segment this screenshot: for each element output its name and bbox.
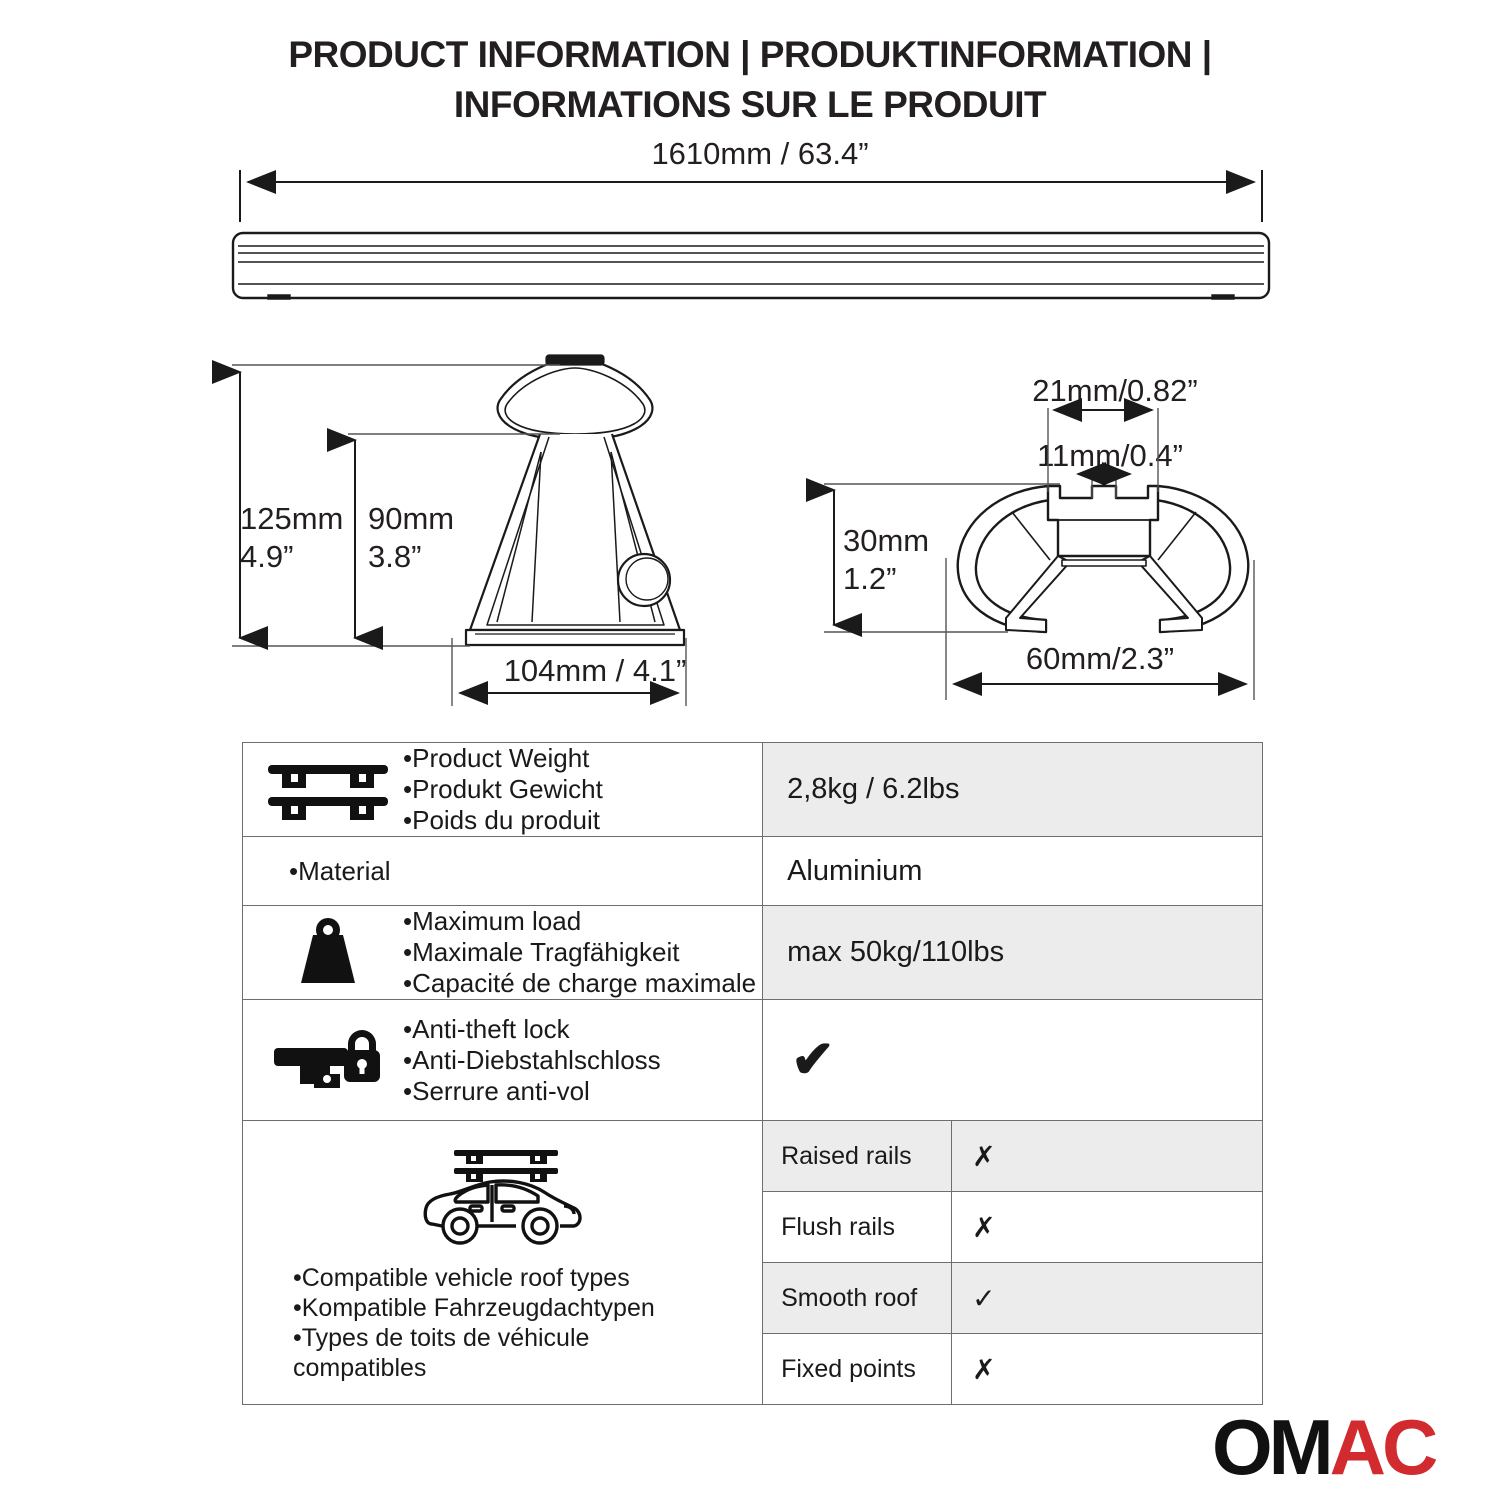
specification-table: •Product Weight •Produkt Gewicht •Poids … — [242, 742, 1263, 1405]
weight-icon — [253, 917, 403, 989]
lock-icon — [253, 1022, 403, 1098]
row-label-cell-weight: •Product Weight •Produkt Gewicht •Poids … — [243, 743, 763, 837]
row-value-cell-weight: 2,8kg / 6.2lbs — [763, 743, 1263, 837]
bar-cross-section — [948, 482, 1252, 632]
label-line: •Kompatible Fahrzeugdachtypen — [293, 1293, 655, 1323]
value-maxload: max 50kg/110lbs — [763, 936, 1262, 969]
roof-type-label: Smooth roof — [763, 1263, 952, 1334]
dim-profile-width: 60mm/2.3” — [930, 640, 1270, 678]
table-row: •Product Weight •Produkt Gewicht •Poids … — [243, 743, 1263, 837]
product-information-sheet: PRODUCT INFORMATION | PRODUKTINFORMATION… — [0, 0, 1500, 1500]
row-label-cell-roof-types: •Compatible vehicle roof types •Kompatib… — [243, 1121, 763, 1405]
cross-icon: ✗ — [952, 1121, 1262, 1192]
crossbar-side-view — [233, 233, 1269, 299]
checkmark-icon: ✔ — [763, 1034, 1262, 1086]
roof-types-labels: •Compatible vehicle roof types •Kompatib… — [251, 1263, 655, 1383]
label-line: •Product Weight — [403, 743, 603, 774]
roof-type-label: Flush rails — [763, 1192, 952, 1263]
value-weight: 2,8kg / 6.2lbs — [763, 773, 1262, 806]
row-labels: •Product Weight •Produkt Gewicht •Poids … — [403, 743, 603, 836]
label-line: •Capacité de charge maximale — [403, 968, 756, 999]
table-row: Flush rails ✗ — [763, 1192, 1262, 1263]
checkmark-icon: ✓ — [952, 1263, 1262, 1334]
logo-text-om: OM — [1212, 1403, 1330, 1491]
row-value-cell-maxload: max 50kg/110lbs — [763, 906, 1263, 1000]
bar-length-dimension — [240, 170, 1262, 222]
table-row: Fixed points ✗ — [763, 1334, 1262, 1405]
row-label-cell-maxload: •Maximum load •Maximale Tragfähigkeit •C… — [243, 906, 763, 1000]
row-value-cell-lock: ✔ — [763, 1000, 1263, 1121]
dim-foot-height-inner: 90mm 3.8” — [368, 500, 508, 576]
table-row: •Compatible vehicle roof types •Kompatib… — [243, 1121, 1263, 1405]
table-row: Raised rails ✗ — [763, 1121, 1262, 1192]
label-line: •Maximum load — [403, 906, 756, 937]
row-label-cell-lock: •Anti-theft lock •Anti-Diebstahlschloss … — [243, 1000, 763, 1121]
profile-width-dimension — [946, 558, 1254, 700]
label-line: •Types de toits de véhicule — [293, 1323, 655, 1353]
label-line: •Anti-Diebstahlschloss — [403, 1045, 661, 1076]
label-line: •Compatible vehicle roof types — [293, 1263, 655, 1293]
label-line: •Produkt Gewicht — [403, 774, 603, 805]
crossbars-icon — [253, 755, 403, 825]
omac-logo: OMAC — [1212, 1408, 1434, 1486]
roof-type-label: Raised rails — [763, 1121, 952, 1192]
dim-profile-height: 30mm 1.2” — [843, 522, 983, 598]
label-line: •Maximale Tragfähigkeit — [403, 937, 756, 968]
title-line-2: INFORMATIONS SUR LE PRODUIT — [0, 80, 1500, 130]
row-label-cell-material: •Material — [243, 837, 763, 906]
row-labels: •Maximum load •Maximale Tragfähigkeit •C… — [403, 906, 756, 999]
roof-type-label: Fixed points — [763, 1334, 952, 1405]
dim-foot-height-total: 125mm 4.9” — [240, 500, 370, 576]
label-line: •Material — [289, 856, 391, 887]
label-line: •Poids du produit — [403, 805, 603, 836]
row-labels: •Material — [289, 856, 391, 887]
row-value-cell-material: Aluminium — [763, 837, 1263, 906]
cross-icon: ✗ — [952, 1192, 1262, 1263]
logo-text-ac: AC — [1330, 1403, 1435, 1491]
label-line: •Anti-theft lock — [403, 1014, 661, 1045]
table-row: •Material Aluminium — [243, 837, 1263, 906]
title-line-1: PRODUCT INFORMATION | PRODUKTINFORMATION… — [0, 30, 1500, 80]
label-line: •Serrure anti-vol — [403, 1076, 661, 1107]
dim-foot-width: 104mm / 4.1” — [430, 652, 760, 690]
dim-profile-top-outer: 21mm/0.82” — [955, 372, 1275, 410]
car-with-roofbars-icon — [418, 1138, 588, 1255]
dim-bar-length: 1610mm / 63.4” — [560, 135, 960, 173]
dim-profile-top-inner: 11mm/0.4” — [950, 437, 1270, 475]
cross-icon: ✗ — [952, 1334, 1262, 1405]
roof-types-matrix-cell: Raised rails ✗ Flush rails ✗ Smooth roof… — [763, 1121, 1263, 1405]
table-row: Smooth roof ✓ — [763, 1263, 1262, 1334]
page-title: PRODUCT INFORMATION | PRODUKTINFORMATION… — [0, 30, 1500, 130]
table-row: •Anti-theft lock •Anti-Diebstahlschloss … — [243, 1000, 1263, 1121]
roof-types-table: Raised rails ✗ Flush rails ✗ Smooth roof… — [763, 1121, 1262, 1404]
row-labels: •Anti-theft lock •Anti-Diebstahlschloss … — [403, 1014, 661, 1107]
table-row: •Maximum load •Maximale Tragfähigkeit •C… — [243, 906, 1263, 1000]
label-line: compatibles — [293, 1353, 655, 1383]
value-material: Aluminium — [763, 855, 1262, 888]
